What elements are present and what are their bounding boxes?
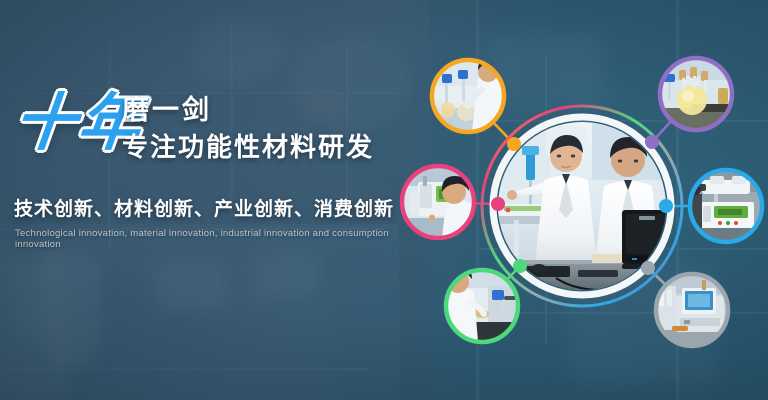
satellite-left[interactable] — [402, 166, 474, 238]
slogan-chinese: 技术创新、材料创新、产业创新、消费创新 — [14, 194, 420, 221]
satellite-bottom-left[interactable] — [446, 270, 518, 342]
satellite-top-left[interactable] — [432, 60, 504, 132]
headline-block: 十年 磨一剑 专注功能性材料研发 技术创新、材料创新、产业创新、消费创新 Tec… — [0, 96, 420, 250]
circle-collage — [396, 34, 768, 378]
headline-lines: 磨一剑 专注功能性材料研发 — [122, 94, 374, 163]
headline-line-1: 磨一剑 — [122, 94, 374, 128]
satellite-bottom-right[interactable] — [656, 274, 728, 346]
center-circle[interactable] — [498, 122, 666, 290]
satellite-top-right[interactable] — [660, 58, 732, 130]
headline-line-2: 专注功能性材料研发 — [122, 131, 374, 164]
promo-banner: 十年 磨一剑 专注功能性材料研发 技术创新、材料创新、产业创新、消费创新 Tec… — [0, 0, 768, 400]
headline-row: 十年 磨一剑 专注功能性材料研发 — [0, 96, 420, 180]
satellite-right[interactable] — [690, 170, 762, 242]
slogan-english: Technological innovation, material innov… — [15, 228, 420, 250]
